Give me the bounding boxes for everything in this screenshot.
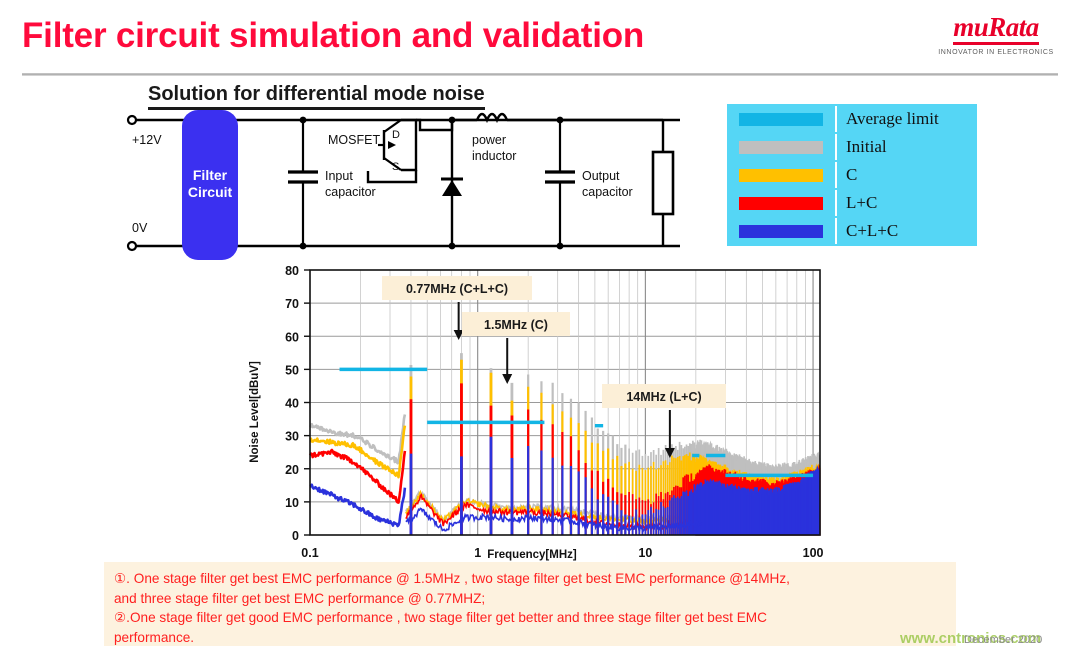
x-tick-label: 0.1 [301, 546, 318, 560]
legend-swatch-clc [739, 225, 823, 238]
legend-swatch-initial [739, 141, 823, 154]
date-stamp: December 2020 [964, 634, 1042, 646]
legend-label-lc: L+C [835, 190, 977, 216]
x-tick-label: 10 [638, 546, 652, 560]
legend-swatch-average-limit [739, 113, 823, 126]
input-capacitor-label-1: Input [325, 169, 353, 183]
murata-logo: muRata INNOVATOR IN ELECTRONICS [926, 14, 1066, 56]
power-inductor-label-1: power [472, 133, 506, 147]
footnote-box: ①. One stage filter get best EMC perform… [104, 562, 956, 646]
output-capacitor-label-1: Output [582, 169, 620, 183]
y-tick-label: 30 [285, 430, 299, 444]
y-axis-title: Noise Level[dBuV] [249, 361, 261, 463]
legend-label-clc: C+L+C [835, 218, 977, 244]
noise-spectrum-chart: 01020304050607080 0.1110100 0.77MHz (C+L… [240, 262, 840, 562]
legend-swatch-cell [727, 169, 835, 182]
x-tick-label: 1 [474, 546, 481, 560]
mosfet-label: MOSFET [328, 133, 380, 147]
load-resistor [653, 152, 673, 214]
y-tick-label: 80 [285, 264, 299, 278]
page-title: Filter circuit simulation and validation [22, 16, 644, 56]
filter-block-label-2: Circuit [188, 184, 233, 200]
y-tick-label: 60 [285, 330, 299, 344]
legend-item-clc: C+L+C [727, 218, 977, 244]
y-tick-label: 70 [285, 297, 299, 311]
footnote-line-1: ①. One stage filter get best EMC perform… [114, 569, 946, 589]
footnote-line-2: and three stage filter get best EMC perf… [114, 589, 946, 609]
legend-swatch-cell [727, 141, 835, 154]
header-divider [22, 73, 1058, 76]
footnote-line-4: performance. [114, 628, 946, 648]
logo-tagline: INNOVATOR IN ELECTRONICS [926, 49, 1066, 56]
y-tick-label: 50 [285, 363, 299, 377]
y-tick-label: 0 [292, 529, 299, 543]
terminal-positive [128, 116, 136, 124]
legend-item-c: C [727, 162, 977, 188]
y-tick-label: 20 [285, 463, 299, 477]
chart-traces [310, 353, 820, 535]
annotation-label: 14MHz (L+C) [626, 390, 701, 404]
terminal-ground [128, 242, 136, 250]
legend-label-initial: Initial [835, 134, 977, 160]
x-tick-label: 100 [803, 546, 824, 560]
section-heading: Solution for differential mode noise [148, 83, 485, 110]
y-tick-label: 10 [285, 496, 299, 510]
rail-label-ground: 0V [132, 221, 148, 235]
output-capacitor-label-2: capacitor [582, 185, 633, 199]
circuit-diagram: +12V 0V Filter Circuit Input capacitor M… [120, 108, 710, 263]
legend-swatch-cell [727, 113, 835, 126]
legend-swatch-cell [727, 197, 835, 210]
legend-item-lc: L+C [727, 190, 977, 216]
y-axis-ticks: 01020304050607080 [285, 264, 310, 543]
legend-swatch-cell [727, 225, 835, 238]
legend-label-c: C [835, 162, 977, 188]
chart-legend: Average limit Initial C L+C C+L+C [727, 104, 977, 246]
diode-symbol [441, 179, 463, 196]
footnote-line-3: ②.One stage filter get good EMC performa… [114, 608, 946, 628]
power-inductor-label-2: inductor [472, 149, 516, 163]
filter-block-label-1: Filter [193, 167, 228, 183]
input-capacitor-label-2: capacitor [325, 185, 376, 199]
legend-swatch-lc [739, 197, 823, 210]
rail-label-positive: +12V [132, 133, 162, 147]
logo-wordmark: muRata [953, 14, 1039, 45]
x-axis-title: Frequency[MHz] [487, 549, 577, 561]
annotation-label: 0.77MHz (C+L+C) [406, 282, 508, 296]
legend-swatch-c [739, 169, 823, 182]
legend-item-initial: Initial [727, 134, 977, 160]
annotation-label: 1.5MHz (C) [484, 318, 548, 332]
legend-item-average-limit: Average limit [727, 106, 977, 132]
y-tick-label: 40 [285, 397, 299, 411]
mosfet-drain-label: D [392, 129, 400, 141]
legend-label-average-limit: Average limit [835, 106, 977, 132]
